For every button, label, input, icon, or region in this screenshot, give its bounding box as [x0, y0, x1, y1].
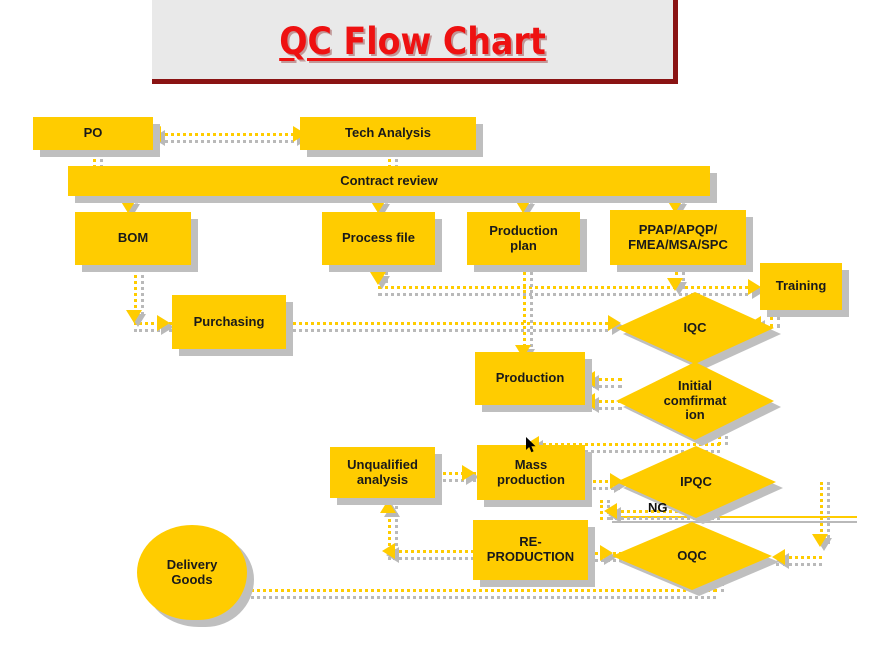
node-ipqc-label: IPQC: [680, 475, 712, 490]
arrowhead-ipqc-to-oqc: [812, 534, 828, 547]
connector-mass-to-reproduction: [600, 500, 603, 520]
qc-flow-chart-canvas: QC Flow Chart: [0, 0, 870, 645]
node-mass-production[interactable]: Mass production: [477, 445, 585, 500]
arrowhead-to-purchasing: [157, 315, 170, 331]
node-ppap-apqp[interactable]: PPAP/APQP/ FMEA/MSA/SPC: [610, 210, 746, 265]
node-re-production-label: RE- PRODUCTION: [487, 535, 574, 565]
title-banner: QC Flow Chart: [152, 0, 678, 84]
connector-bom-down: [134, 268, 137, 316]
connector-po-tech: [152, 133, 302, 136]
mouse-pointer-icon: [526, 437, 537, 453]
node-process-file-label: Process file: [342, 231, 415, 246]
node-ipqc[interactable]: IPQC: [616, 446, 776, 518]
arrowhead-unqualified-to-mass: [462, 465, 475, 481]
node-unqualified-analysis-label: Unqualified analysis: [347, 458, 418, 488]
node-oqc[interactable]: OQC: [612, 522, 772, 590]
edge-label-ng: NG: [648, 500, 668, 515]
arrowhead-oqc-right-in: [772, 549, 785, 565]
node-iqc-label: IQC: [683, 321, 706, 336]
node-production-plan-label: Production plan: [489, 224, 558, 254]
node-po[interactable]: PO: [33, 117, 153, 150]
connector-processfile-to-training: [378, 286, 756, 289]
arrowhead-bom-down: [126, 310, 142, 323]
connector-production-plan-down: [523, 265, 526, 355]
node-production-label: Production: [496, 371, 565, 386]
node-tech-analysis-label: Tech Analysis: [345, 126, 431, 141]
node-tech-analysis[interactable]: Tech Analysis: [300, 117, 476, 150]
node-ppap-apqp-label: PPAP/APQP/ FMEA/MSA/SPC: [628, 223, 728, 253]
node-process-file[interactable]: Process file: [322, 212, 435, 265]
arrowhead-reproduction-left: [382, 543, 395, 559]
node-purchasing[interactable]: Purchasing: [172, 295, 286, 349]
node-contract-review[interactable]: Contract review: [68, 166, 710, 196]
connector-reproduction-left: [388, 550, 474, 553]
arrowhead-up-to-unqualified: [380, 500, 396, 513]
node-contract-review-label: Contract review: [340, 174, 438, 189]
node-po-label: PO: [84, 126, 103, 141]
node-oqc-label: OQC: [677, 549, 707, 564]
node-delivery-goods-label: Delivery Goods: [167, 558, 218, 588]
connector-purchasing-to-iqc: [286, 322, 616, 325]
node-training-label: Training: [776, 279, 827, 294]
page-title: QC Flow Chart: [152, 20, 673, 63]
node-mass-production-label: Mass production: [497, 458, 565, 488]
node-production-plan[interactable]: Production plan: [467, 212, 580, 265]
node-delivery-goods[interactable]: Delivery Goods: [137, 525, 247, 620]
node-initial-confirmation[interactable]: Initial comfirmat ion: [616, 362, 774, 440]
node-unqualified-analysis[interactable]: Unqualified analysis: [330, 447, 435, 498]
node-bom-label: BOM: [118, 231, 148, 246]
arrowhead-ppap-down: [667, 278, 683, 291]
node-re-production[interactable]: RE- PRODUCTION: [473, 520, 588, 580]
node-purchasing-label: Purchasing: [194, 315, 265, 330]
node-production[interactable]: Production: [475, 352, 585, 405]
arrowhead-process-file-down: [370, 272, 386, 285]
node-initial-confirmation-label: Initial comfirmat ion: [664, 379, 727, 424]
node-bom[interactable]: BOM: [75, 212, 191, 265]
node-iqc[interactable]: IQC: [616, 292, 774, 364]
